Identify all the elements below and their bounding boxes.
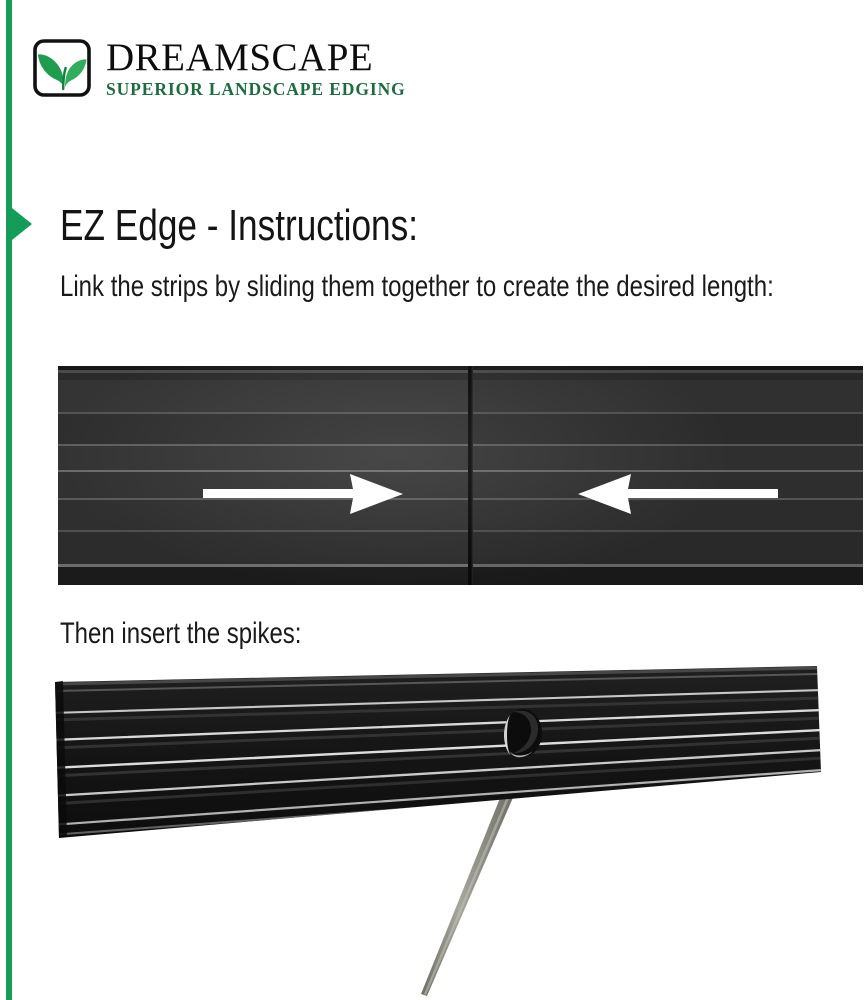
arrow-left-icon bbox=[578, 472, 778, 521]
arrow-right-icon bbox=[203, 472, 403, 521]
strip-joint-seam bbox=[468, 366, 473, 585]
leaf-in-rounded-square-icon bbox=[30, 36, 94, 100]
spike-hole-icon bbox=[504, 709, 542, 757]
brand-name: DREAMSCAPE bbox=[106, 38, 406, 78]
page-title: EZ Edge - Instructions: bbox=[60, 200, 418, 252]
left-accent-rail bbox=[6, 0, 12, 1000]
spike-instruction-label: Then insert the spikes: bbox=[60, 612, 301, 656]
brand-lockup: DREAMSCAPE SUPERIOR LANDSCAPE EDGING bbox=[30, 36, 406, 100]
instruction-sheet-page: DREAMSCAPE SUPERIOR LANDSCAPE EDGING EZ … bbox=[0, 0, 865, 1000]
instruction-paragraph: Link the strips by sliding them together… bbox=[60, 265, 796, 309]
brand-tagline: SUPERIOR LANDSCAPE EDGING bbox=[106, 79, 406, 99]
triangle-right-icon bbox=[12, 208, 32, 240]
edging-strip-angled bbox=[55, 666, 823, 838]
linked-strips-photo bbox=[58, 366, 863, 585]
spike-insert-photo bbox=[55, 660, 865, 1000]
